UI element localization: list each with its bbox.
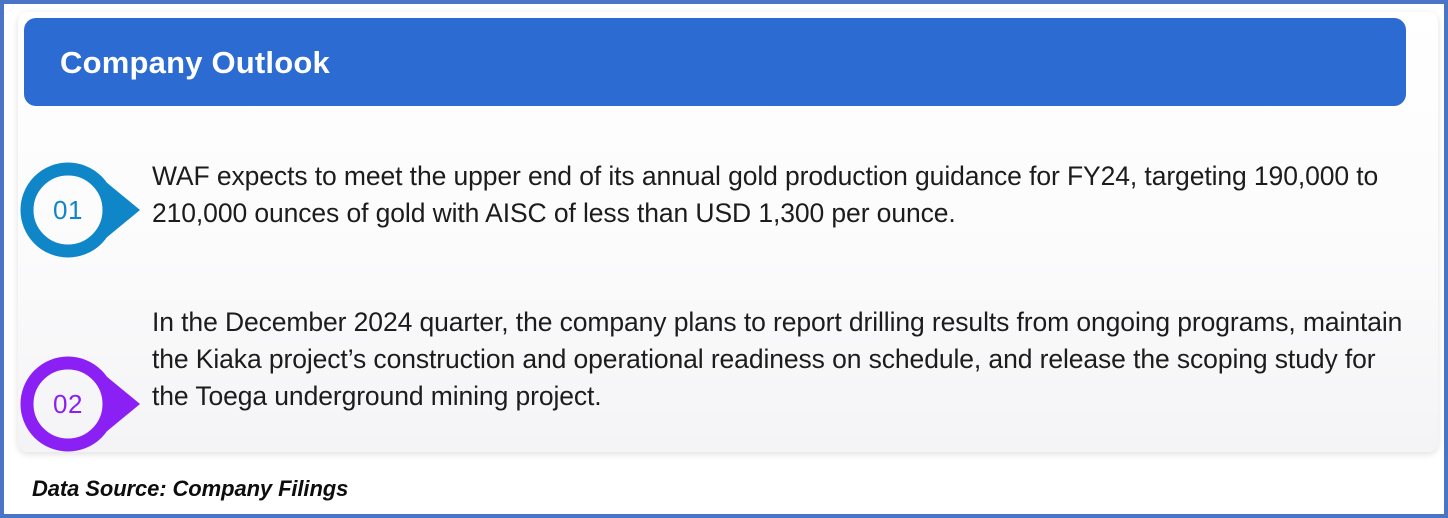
badge-number: 02	[53, 389, 83, 419]
numbered-pin-icon: 01	[18, 160, 148, 260]
list-item: 02 In the December 2024 quarter, the com…	[4, 302, 1448, 454]
outlook-list: 01 WAF expects to meet the upper end of …	[4, 124, 1448, 454]
page-title: Company Outlook	[24, 47, 330, 78]
list-item-text: WAF expects to meet the upper end of its…	[152, 136, 1437, 232]
slide-frame: Company Outlook 01 WAF expects to meet t…	[0, 0, 1448, 518]
list-item: 01 WAF expects to meet the upper end of …	[4, 136, 1448, 260]
badge-number: 01	[53, 195, 83, 225]
badge-01: 01	[4, 136, 152, 260]
numbered-pin-icon: 02	[18, 354, 148, 454]
data-source-label: Data Source: Company Filings	[32, 476, 348, 502]
list-item-text: In the December 2024 quarter, the compan…	[152, 302, 1437, 415]
badge-02: 02	[4, 302, 152, 454]
header-bar: Company Outlook	[24, 18, 1406, 106]
